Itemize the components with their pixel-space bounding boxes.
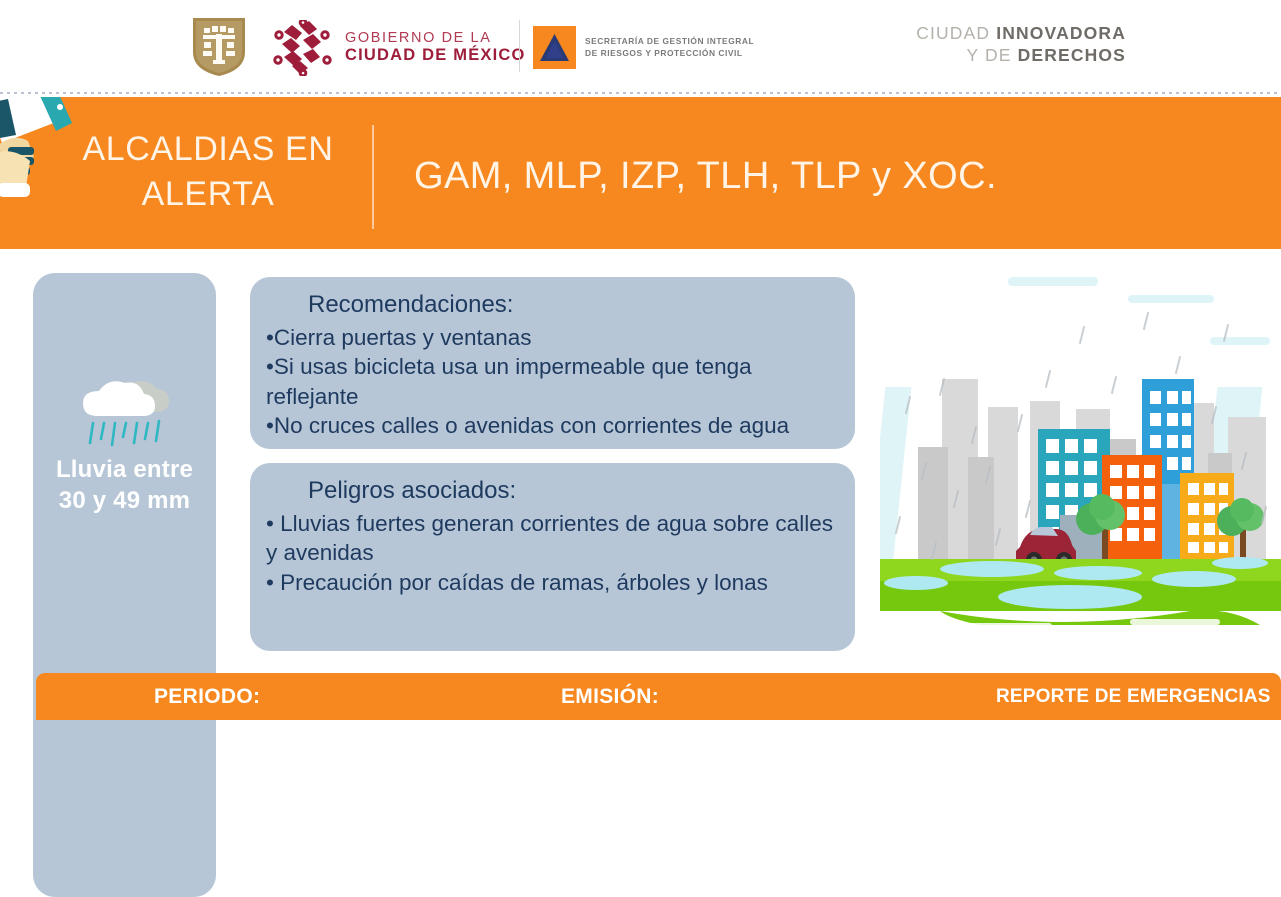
reporte-emergencias-label: REPORTE DE EMERGENCIAS — [996, 686, 1271, 708]
rain-label: Lluvia entre 30 y 49 mm — [56, 455, 193, 516]
rainy-city-illustration — [880, 267, 1281, 657]
recomendaciones-body: •Cierra puertas y ventanas •Si usas bici… — [266, 323, 839, 440]
list-item: • Lluvias fuertes generan corrientes de … — [266, 509, 839, 568]
slogan-l2-bold: DERECHOS — [1018, 45, 1126, 65]
city-slogan: CIUDAD INNOVADORA Y DE DERECHOS — [916, 23, 1126, 67]
alert-banner-divider — [372, 125, 374, 229]
footer-bar: PERIODO: EMISIÓN: REPORTE DE EMERGENCIAS — [36, 673, 1281, 720]
alert-title-line2: ALERTA — [58, 172, 358, 217]
rain-intensity-card: Lluvia entre 30 y 49 mm — [33, 273, 216, 897]
emision-label: EMISIÓN: — [561, 685, 659, 709]
cdmx-logo: GOBIERNO DE LA CIUDAD DE MÉXICO — [270, 20, 526, 75]
main-content: Lluvia entre 30 y 49 mm Recomendaciones:… — [0, 249, 1281, 669]
cdmx-knot-icon — [270, 20, 336, 76]
cdmx-line2: CIUDAD DE MÉXICO — [345, 46, 526, 64]
recomendaciones-title: Recomendaciones: — [308, 291, 855, 319]
peligros-body: • Lluvias fuertes generan corrientes de … — [266, 509, 839, 597]
peligros-title: Peligros asociados: — [308, 477, 855, 505]
sgirpc-line2: DE RIESGOS Y PROTECCIÓN CIVIL — [585, 48, 754, 59]
alcaldias-list: GAM, MLP, IZP, TLH, TLP y XOC. — [414, 155, 997, 198]
list-item: • Precaución por caídas de ramas, árbole… — [266, 568, 839, 597]
slogan-l2-light: Y DE — [966, 45, 1017, 65]
sgirpc-triangle-icon — [533, 26, 576, 69]
sgirpc-logo: SECRETARÍA DE GESTIÓN INTEGRAL DE RIESGO… — [533, 26, 754, 69]
rain-label-line2: 30 y 49 mm — [56, 486, 193, 517]
rain-cloud-icon — [77, 373, 173, 447]
list-item: •Si usas bicicleta usa un impermeable qu… — [266, 352, 839, 411]
sgirpc-line1: SECRETARÍA DE GESTIÓN INTEGRAL — [585, 36, 754, 47]
alert-title-line1: ALCALDIAS EN — [58, 127, 358, 172]
rain-label-line1: Lluvia entre — [56, 455, 193, 486]
alert-banner: ALCALDIAS EN ALERTA GAM, MLP, IZP, TLH, … — [0, 97, 1281, 249]
cdmx-line1: GOBIERNO DE LA — [345, 30, 526, 46]
list-item: •No cruces calles o avenidas con corrien… — [266, 411, 839, 440]
periodo-label: PERIODO: — [154, 685, 260, 709]
header-dotted-rule — [0, 92, 1281, 94]
recomendaciones-card: Recomendaciones: •Cierra puertas y venta… — [250, 277, 855, 449]
cdmx-coat-of-arms-shield-icon — [191, 16, 247, 78]
slogan-l1-light: CIUDAD — [916, 23, 996, 43]
alert-banner-title: ALCALDIAS EN ALERTA — [58, 127, 358, 217]
slogan-l1-bold: INNOVADORA — [996, 23, 1126, 43]
page-header: GOBIERNO DE LA CIUDAD DE MÉXICO SECRETAR… — [0, 0, 1281, 93]
list-item: •Cierra puertas y ventanas — [266, 323, 839, 352]
peligros-card: Peligros asociados: • Lluvias fuertes ge… — [250, 463, 855, 651]
header-divider — [519, 20, 520, 72]
